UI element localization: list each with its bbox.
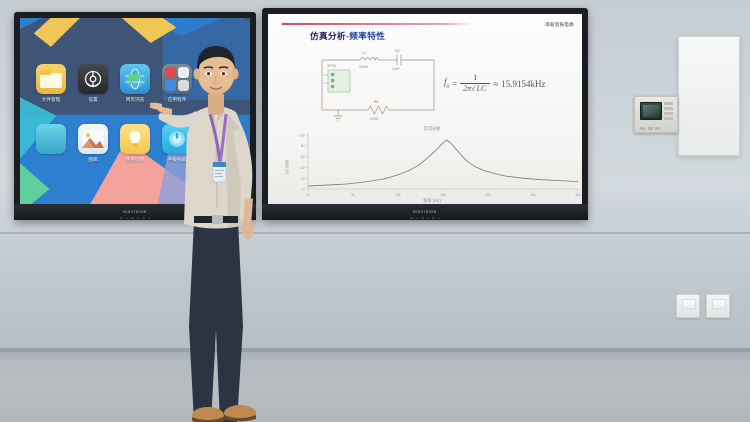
app-label: 设置 xyxy=(88,97,97,103)
globe-icon[interactable] xyxy=(120,64,150,94)
svg-text:5k: 5k xyxy=(351,193,355,197)
switch-cap xyxy=(685,309,693,313)
panel-button[interactable] xyxy=(655,127,660,130)
panel-screen xyxy=(640,102,662,120)
svg-text:30k: 30k xyxy=(575,193,581,197)
panel-key[interactable] xyxy=(664,102,673,105)
panel-indicator-lights xyxy=(410,217,440,220)
svg-text:10k: 10k xyxy=(395,193,401,197)
floor xyxy=(0,352,750,422)
app-label: 图库 xyxy=(88,157,97,163)
app-settings[interactable]: 设置 xyxy=(72,64,114,122)
panel-button[interactable] xyxy=(648,127,653,130)
frequency-response-chart: 交流分析 电压 (V) 020406080100 1k5k10k15k20k25… xyxy=(282,126,582,204)
switch-cap xyxy=(715,309,723,313)
circuit-diagram: XFG1 L1 10mH C1 10nF R1 200Ω xyxy=(308,46,448,124)
resistor-ref: R1 xyxy=(374,100,379,104)
slide-title-accent: 频率特性 xyxy=(349,31,385,41)
slide-corner-label: 串联谐振电路 xyxy=(545,22,574,28)
brand-label: HIKVISION xyxy=(123,210,147,214)
brand-label: HIKVISION xyxy=(413,210,437,214)
right-panel-screen[interactable]: 串联谐振电路 仿真分析-频率特性 xyxy=(268,14,582,204)
folder-icon[interactable] xyxy=(36,64,66,94)
right-interactive-panel[interactable]: 串联谐振电路 仿真分析-频率特性 xyxy=(262,8,588,220)
panel-button[interactable] xyxy=(640,127,645,130)
presenter-figure xyxy=(150,32,280,422)
panel-key[interactable] xyxy=(664,112,673,115)
wall-seam-upper xyxy=(0,232,750,234)
svg-text:1k: 1k xyxy=(306,193,310,197)
svg-text:20: 20 xyxy=(301,177,305,181)
panel-indicator-lights xyxy=(120,217,150,220)
resistor-value: 200Ω xyxy=(370,117,379,121)
chart-y-ticks: 020406080100 xyxy=(299,133,308,191)
slide-title-main: 仿真分析 xyxy=(310,31,346,41)
svg-text:20k: 20k xyxy=(485,193,491,197)
source-label: XFG1 xyxy=(327,64,336,68)
presentation-slide[interactable]: 串联谐振电路 仿真分析-频率特性 xyxy=(268,14,582,204)
formula-lhs: f0 xyxy=(444,77,449,90)
panel-screen-glow xyxy=(643,105,659,117)
formula-result: 15.9154kHz xyxy=(501,79,545,89)
panel-buttons[interactable] xyxy=(640,127,660,130)
svg-text:40: 40 xyxy=(301,166,305,170)
note-icon[interactable] xyxy=(36,124,66,154)
chart-x-ticks: 1k5k10k15k20k25k30k xyxy=(306,189,581,197)
resonance-formula: f0 = 1 2π√LC ≈ 15.9154kHz xyxy=(444,74,546,93)
app-label: 文件管理 xyxy=(42,97,60,103)
whiteboard xyxy=(678,36,740,156)
capacitor-value: 10nF xyxy=(392,67,400,71)
capacitor-ref: C1 xyxy=(395,49,400,53)
formula-fraction: 1 2π√LC xyxy=(460,74,490,93)
chart-series-line xyxy=(308,140,578,186)
panel-key[interactable] xyxy=(664,117,673,120)
formula-equals: = xyxy=(452,79,457,89)
app-gallery[interactable]: 图库 xyxy=(72,124,114,182)
panel-side-keys[interactable] xyxy=(664,102,673,122)
wall-control-panel[interactable] xyxy=(634,96,678,133)
lightbulb-icon[interactable] xyxy=(120,124,150,154)
classroom-scene: 文件管理 设置 xyxy=(0,0,750,422)
title-rule xyxy=(282,23,472,25)
panel-key[interactable] xyxy=(664,107,673,110)
app-label: 使用指南 xyxy=(126,157,144,163)
svg-text:60: 60 xyxy=(301,155,305,159)
svg-text:25k: 25k xyxy=(530,193,536,197)
wall-switch-right[interactable] xyxy=(706,294,730,318)
formula-approx: ≈ xyxy=(493,79,498,89)
slide-title: 仿真分析-频率特性 xyxy=(310,30,385,42)
gallery-icon[interactable] xyxy=(78,124,108,154)
inductor-ref: L1 xyxy=(362,51,366,55)
svg-text:100: 100 xyxy=(299,133,305,137)
switch-rocker[interactable] xyxy=(682,299,696,309)
app-label: 网页浏览 xyxy=(126,97,144,103)
formula-denominator: 2π√LC xyxy=(460,84,490,93)
wall-switch-left[interactable] xyxy=(676,294,700,318)
svg-text:80: 80 xyxy=(301,144,305,148)
svg-text:0: 0 xyxy=(303,187,305,191)
app-slot-6[interactable] xyxy=(30,124,72,182)
inductor-value: 10mH xyxy=(359,65,369,69)
right-panel-brandbar: HIKVISION xyxy=(262,204,588,220)
formula-numerator: 1 xyxy=(469,74,481,83)
gear-icon[interactable] xyxy=(78,64,108,94)
svg-text:15k: 15k xyxy=(440,193,446,197)
switch-rocker[interactable] xyxy=(712,299,726,309)
app-file-manager[interactable]: 文件管理 xyxy=(30,64,72,122)
